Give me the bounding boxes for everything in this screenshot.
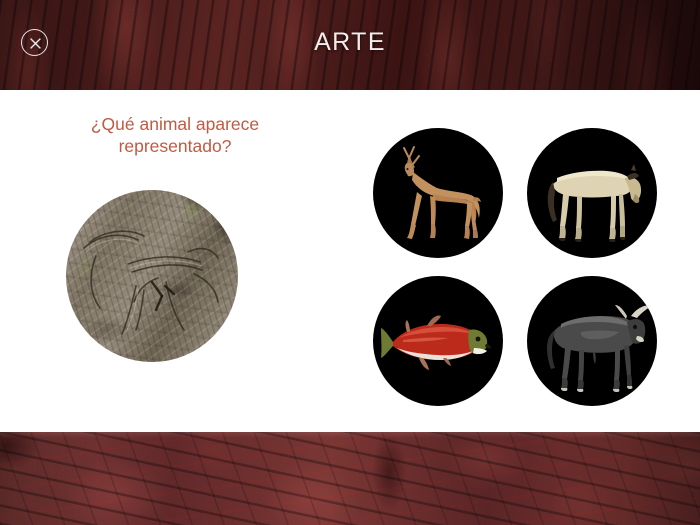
content-panel: ¿Qué animal aparece representado?	[0, 90, 700, 432]
engraving-lines	[66, 190, 238, 362]
option-bull[interactable]	[527, 276, 657, 406]
horse-icon	[527, 128, 657, 258]
quiz-screen: ARTE ¿Qué animal aparece representado?	[0, 0, 700, 525]
salmon-icon	[373, 276, 503, 406]
option-deer[interactable]	[373, 128, 503, 258]
answer-options-grid	[373, 128, 657, 406]
deer-icon	[373, 128, 503, 258]
bull-icon	[527, 276, 657, 406]
cave-engraving-photo	[66, 190, 238, 362]
option-horse[interactable]	[527, 128, 657, 258]
option-salmon[interactable]	[373, 276, 503, 406]
question-text: ¿Qué animal aparece representado?	[36, 113, 314, 157]
page-title: ARTE	[0, 28, 700, 57]
footer-background	[0, 432, 700, 525]
footer-vignette	[0, 432, 700, 525]
